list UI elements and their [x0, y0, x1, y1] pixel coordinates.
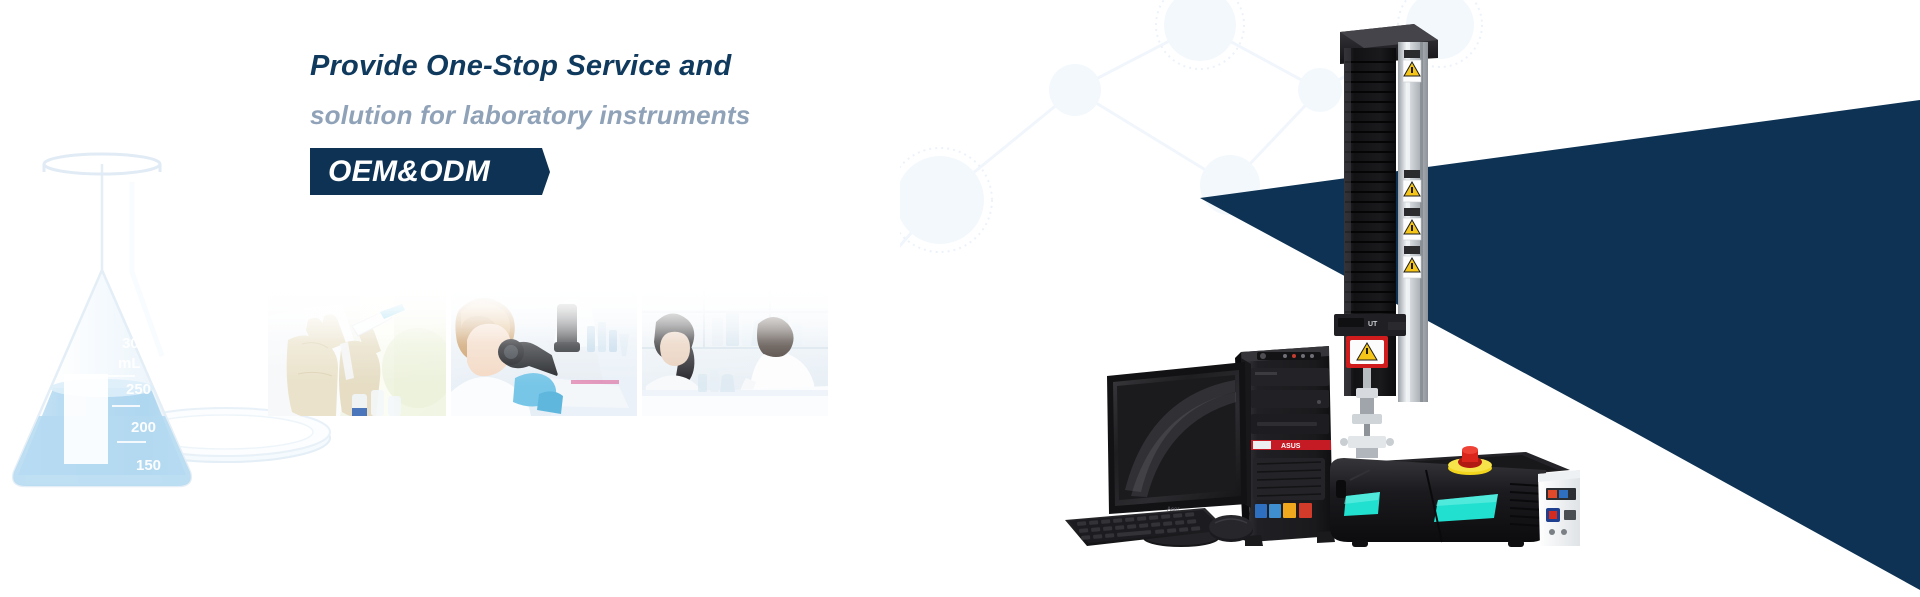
cyan-accent-right	[1434, 494, 1498, 522]
crosshead: UT	[1334, 314, 1406, 368]
emergency-stop-button	[1448, 446, 1492, 475]
grips	[1340, 368, 1394, 458]
oem-odm-badge: OEM&ODM	[310, 148, 550, 195]
cyan-accent-left	[1344, 492, 1380, 516]
headline-line-1: Provide One-Stop Service and	[310, 52, 1030, 81]
decor-wedges	[1200, 0, 1920, 597]
control-panel	[1538, 470, 1580, 546]
photo-lab-bench	[642, 282, 828, 416]
grad-200: 200	[131, 419, 156, 436]
headline-block: Provide One-Stop Service and solution fo…	[310, 52, 1030, 195]
mouse	[1209, 515, 1253, 542]
keyboard	[1065, 508, 1227, 546]
pc-tower: ASUS	[1235, 346, 1335, 546]
grad-150: 150	[136, 457, 161, 474]
flask-body	[0, 154, 210, 500]
badge-label: OEM&ODM	[328, 155, 490, 188]
machine-base	[1330, 452, 1570, 547]
svg-text:UT: UT	[1368, 321, 1378, 328]
promo-banner: mL 300 250 200 150 Provide One-Stop Serv…	[0, 0, 1920, 597]
grad-250: 250	[126, 381, 151, 398]
grad-mL: mL	[118, 355, 141, 372]
lcd-monitor: Acer	[1107, 358, 1251, 547]
light-blue-triangle	[1450, 100, 1920, 360]
photo-microscope	[451, 282, 637, 416]
flask-graduations: mL 300 250 200 150	[118, 335, 161, 474]
petri-dish	[120, 408, 330, 462]
desktop-computer: ASUS	[1045, 340, 1355, 555]
lab-photo-strip	[268, 282, 828, 416]
grad-300: 300	[122, 335, 147, 352]
headline-line-2: solution for laboratory instruments	[310, 102, 1030, 128]
navy-arrow-wedge	[1200, 100, 1920, 590]
svg-text:Acer: Acer	[1167, 507, 1179, 513]
photo-pipetting	[268, 282, 446, 416]
universal-tensile-testing-machine: UT	[1330, 18, 1580, 548]
warning-labels	[1403, 50, 1421, 278]
svg-text:ASUS: ASUS	[1281, 443, 1301, 450]
